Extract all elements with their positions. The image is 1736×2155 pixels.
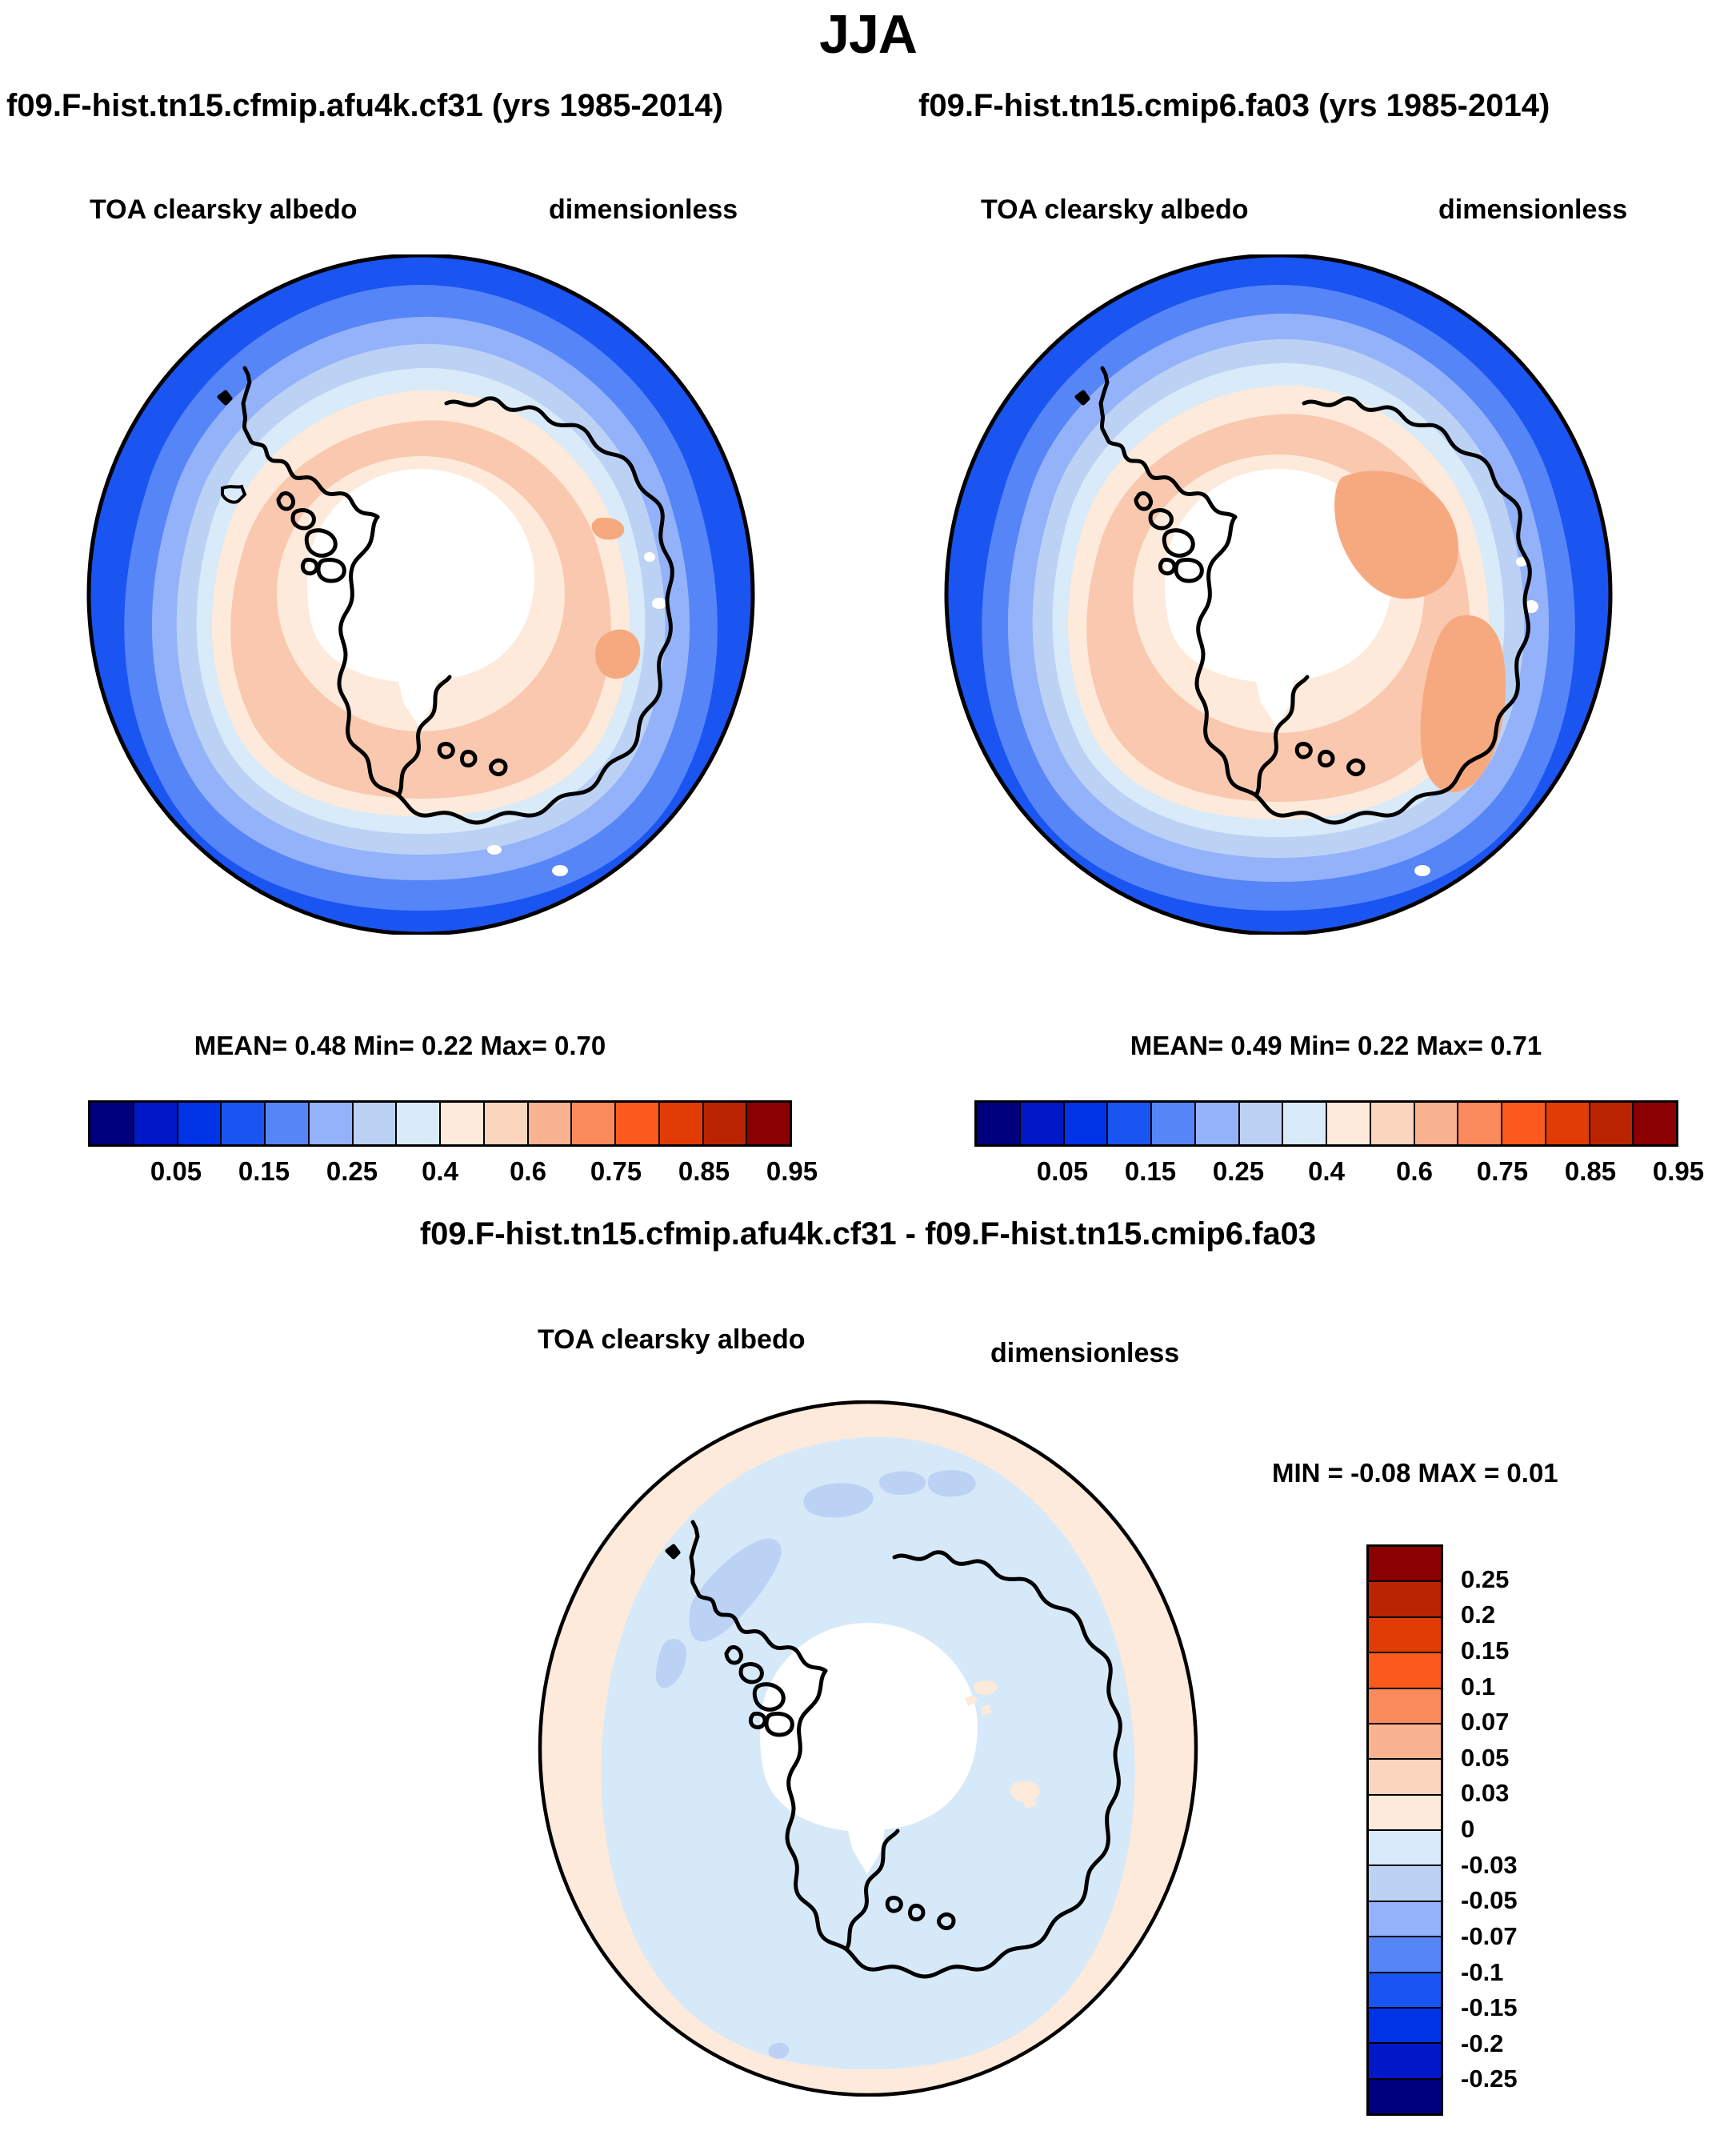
colorbar-cell (310, 1103, 354, 1144)
colorbar-tick-label: -0.25 (1461, 2065, 1621, 2093)
colorbar-cell (354, 1103, 398, 1144)
colorbar-cell (1458, 1103, 1502, 1144)
colorbar-cell (572, 1103, 616, 1144)
tick: 0.85 (1546, 1156, 1634, 1187)
colorbar-tick-label: -0.15 (1461, 1993, 1621, 2022)
right-panel-title: f09.F-hist.tn15.cmip6.fa03 (yrs 1985-201… (918, 88, 1550, 124)
main-title: JJA (0, 3, 1736, 66)
tick: 0.75 (572, 1156, 660, 1187)
difference-colorbar-ticks: 0.250.20.150.10.070.050.030-0.03-0.05-0.… (1461, 1544, 1637, 2116)
right-units-label: dimensionless (1438, 194, 1627, 226)
tick: 0.15 (220, 1156, 308, 1187)
colorbar-cell (1369, 1689, 1441, 1724)
difference-panel-title: f09.F-hist.tn15.cfmip.afu4k.cf31 - f09.F… (0, 1216, 1736, 1252)
tick: 0.05 (1018, 1156, 1106, 1187)
tick: 0.95 (1634, 1156, 1722, 1187)
right-stats-text: MEAN= 0.49 Min= 0.22 Max= 0.71 (936, 1031, 1736, 1061)
tick: 0.05 (132, 1156, 220, 1187)
colorbar-cell (616, 1103, 660, 1144)
colorbar-cell (747, 1103, 790, 1144)
left-variable-label: TOA clearsky albedo (90, 194, 358, 226)
colorbar-cell (1369, 1937, 1441, 1973)
tick: 0.4 (1282, 1156, 1370, 1187)
colorbar-cell (1152, 1103, 1196, 1144)
right-colorbar (974, 1100, 1678, 1147)
colorbar-tick-label: 0.1 (1461, 1672, 1621, 1701)
colorbar-tick-label: 0.07 (1461, 1708, 1621, 1736)
right-colorbar-ticks: 0.05 0.15 0.25 0.4 0.6 0.75 0.85 0.95 (974, 1156, 1678, 1193)
colorbar-tick-label: 0.15 (1461, 1636, 1621, 1665)
colorbar-cell (1369, 1618, 1441, 1653)
colorbar-cell (90, 1103, 134, 1144)
colorbar-cell (1369, 1724, 1441, 1760)
colorbar-tick-label: -0.05 (1461, 1886, 1621, 1915)
colorbar-cell (1369, 1547, 1441, 1582)
colorbar-cell (1634, 1103, 1676, 1144)
colorbar-tick-label: 0 (1461, 1815, 1621, 1844)
colorbar-cell (134, 1103, 178, 1144)
colorbar-tick-label: -0.1 (1461, 1958, 1621, 1987)
colorbar-cell (1590, 1103, 1634, 1144)
colorbar-cell (1369, 2044, 1441, 2079)
colorbar-tick-label: -0.2 (1461, 2029, 1621, 2058)
left-polar-map (85, 254, 757, 935)
colorbar-cell (1065, 1103, 1109, 1144)
tick: 0.85 (660, 1156, 748, 1187)
left-colorbar-ticks: 0.05 0.15 0.25 0.4 0.6 0.75 0.85 0.95 (88, 1156, 792, 1193)
colorbar-cell (1369, 1653, 1441, 1688)
colorbar-cell (660, 1103, 704, 1144)
colorbar-cell (1546, 1103, 1590, 1144)
colorbar-cell (1415, 1103, 1459, 1144)
colorbar-cell (1369, 1831, 1441, 1866)
colorbar-cell (1371, 1103, 1415, 1144)
colorbar-cell (1283, 1103, 1327, 1144)
colorbar-cell (704, 1103, 748, 1144)
difference-polar-map (536, 1400, 1200, 2097)
left-panel-title: f09.F-hist.tn15.cfmip.afu4k.cf31 (yrs 19… (6, 88, 723, 124)
colorbar-tick-label: 0.2 (1461, 1600, 1621, 1629)
tick: 0.6 (1370, 1156, 1458, 1187)
colorbar-cell (1369, 2080, 1441, 2113)
colorbar-tick-label: -0.07 (1461, 1922, 1621, 1951)
colorbar-cell (222, 1103, 266, 1144)
tick: 0.75 (1458, 1156, 1546, 1187)
colorbar-cell (266, 1103, 310, 1144)
colorbar-tick-label: -0.03 (1461, 1851, 1621, 1880)
colorbar-cell (1369, 1760, 1441, 1795)
tick: 0.15 (1106, 1156, 1194, 1187)
right-variable-label: TOA clearsky albedo (981, 194, 1249, 226)
difference-stats-text: MIN = -0.08 MAX = 0.01 (1272, 1458, 1558, 1488)
tick: 0.25 (308, 1156, 396, 1187)
tick: 0.25 (1194, 1156, 1282, 1187)
colorbar-cell (1502, 1103, 1546, 1144)
left-stats-text: MEAN= 0.48 Min= 0.22 Max= 0.70 (0, 1031, 800, 1061)
difference-variable-label: TOA clearsky albedo (538, 1324, 806, 1356)
colorbar-cell (1369, 1973, 1441, 2009)
colorbar-cell (1108, 1103, 1152, 1144)
colorbar-cell (178, 1103, 222, 1144)
colorbar-tick-label: 0.25 (1461, 1565, 1621, 1594)
colorbar-cell (1369, 1582, 1441, 1617)
colorbar-cell (1369, 1866, 1441, 1901)
colorbar-cell (1240, 1103, 1284, 1144)
tick: 0.6 (484, 1156, 572, 1187)
colorbar-cell (529, 1103, 573, 1144)
colorbar-cell (1369, 2009, 1441, 2044)
right-polar-map (942, 254, 1614, 935)
difference-units-label: dimensionless (990, 1338, 1179, 1369)
colorbar-cell (1196, 1103, 1240, 1144)
colorbar-cell (977, 1103, 1021, 1144)
colorbar-cell (397, 1103, 441, 1144)
colorbar-cell (1327, 1103, 1371, 1144)
left-units-label: dimensionless (549, 194, 738, 226)
colorbar-cell (1369, 1796, 1441, 1831)
colorbar-cell (485, 1103, 529, 1144)
colorbar-cell (1021, 1103, 1065, 1144)
colorbar-cell (1369, 1902, 1441, 1937)
tick: 0.4 (396, 1156, 484, 1187)
colorbar-cell (441, 1103, 485, 1144)
tick: 0.95 (748, 1156, 836, 1187)
difference-colorbar (1366, 1544, 1443, 2116)
colorbar-tick-label: 0.03 (1461, 1779, 1621, 1808)
colorbar-tick-label: 0.05 (1461, 1744, 1621, 1772)
left-colorbar (88, 1100, 792, 1147)
